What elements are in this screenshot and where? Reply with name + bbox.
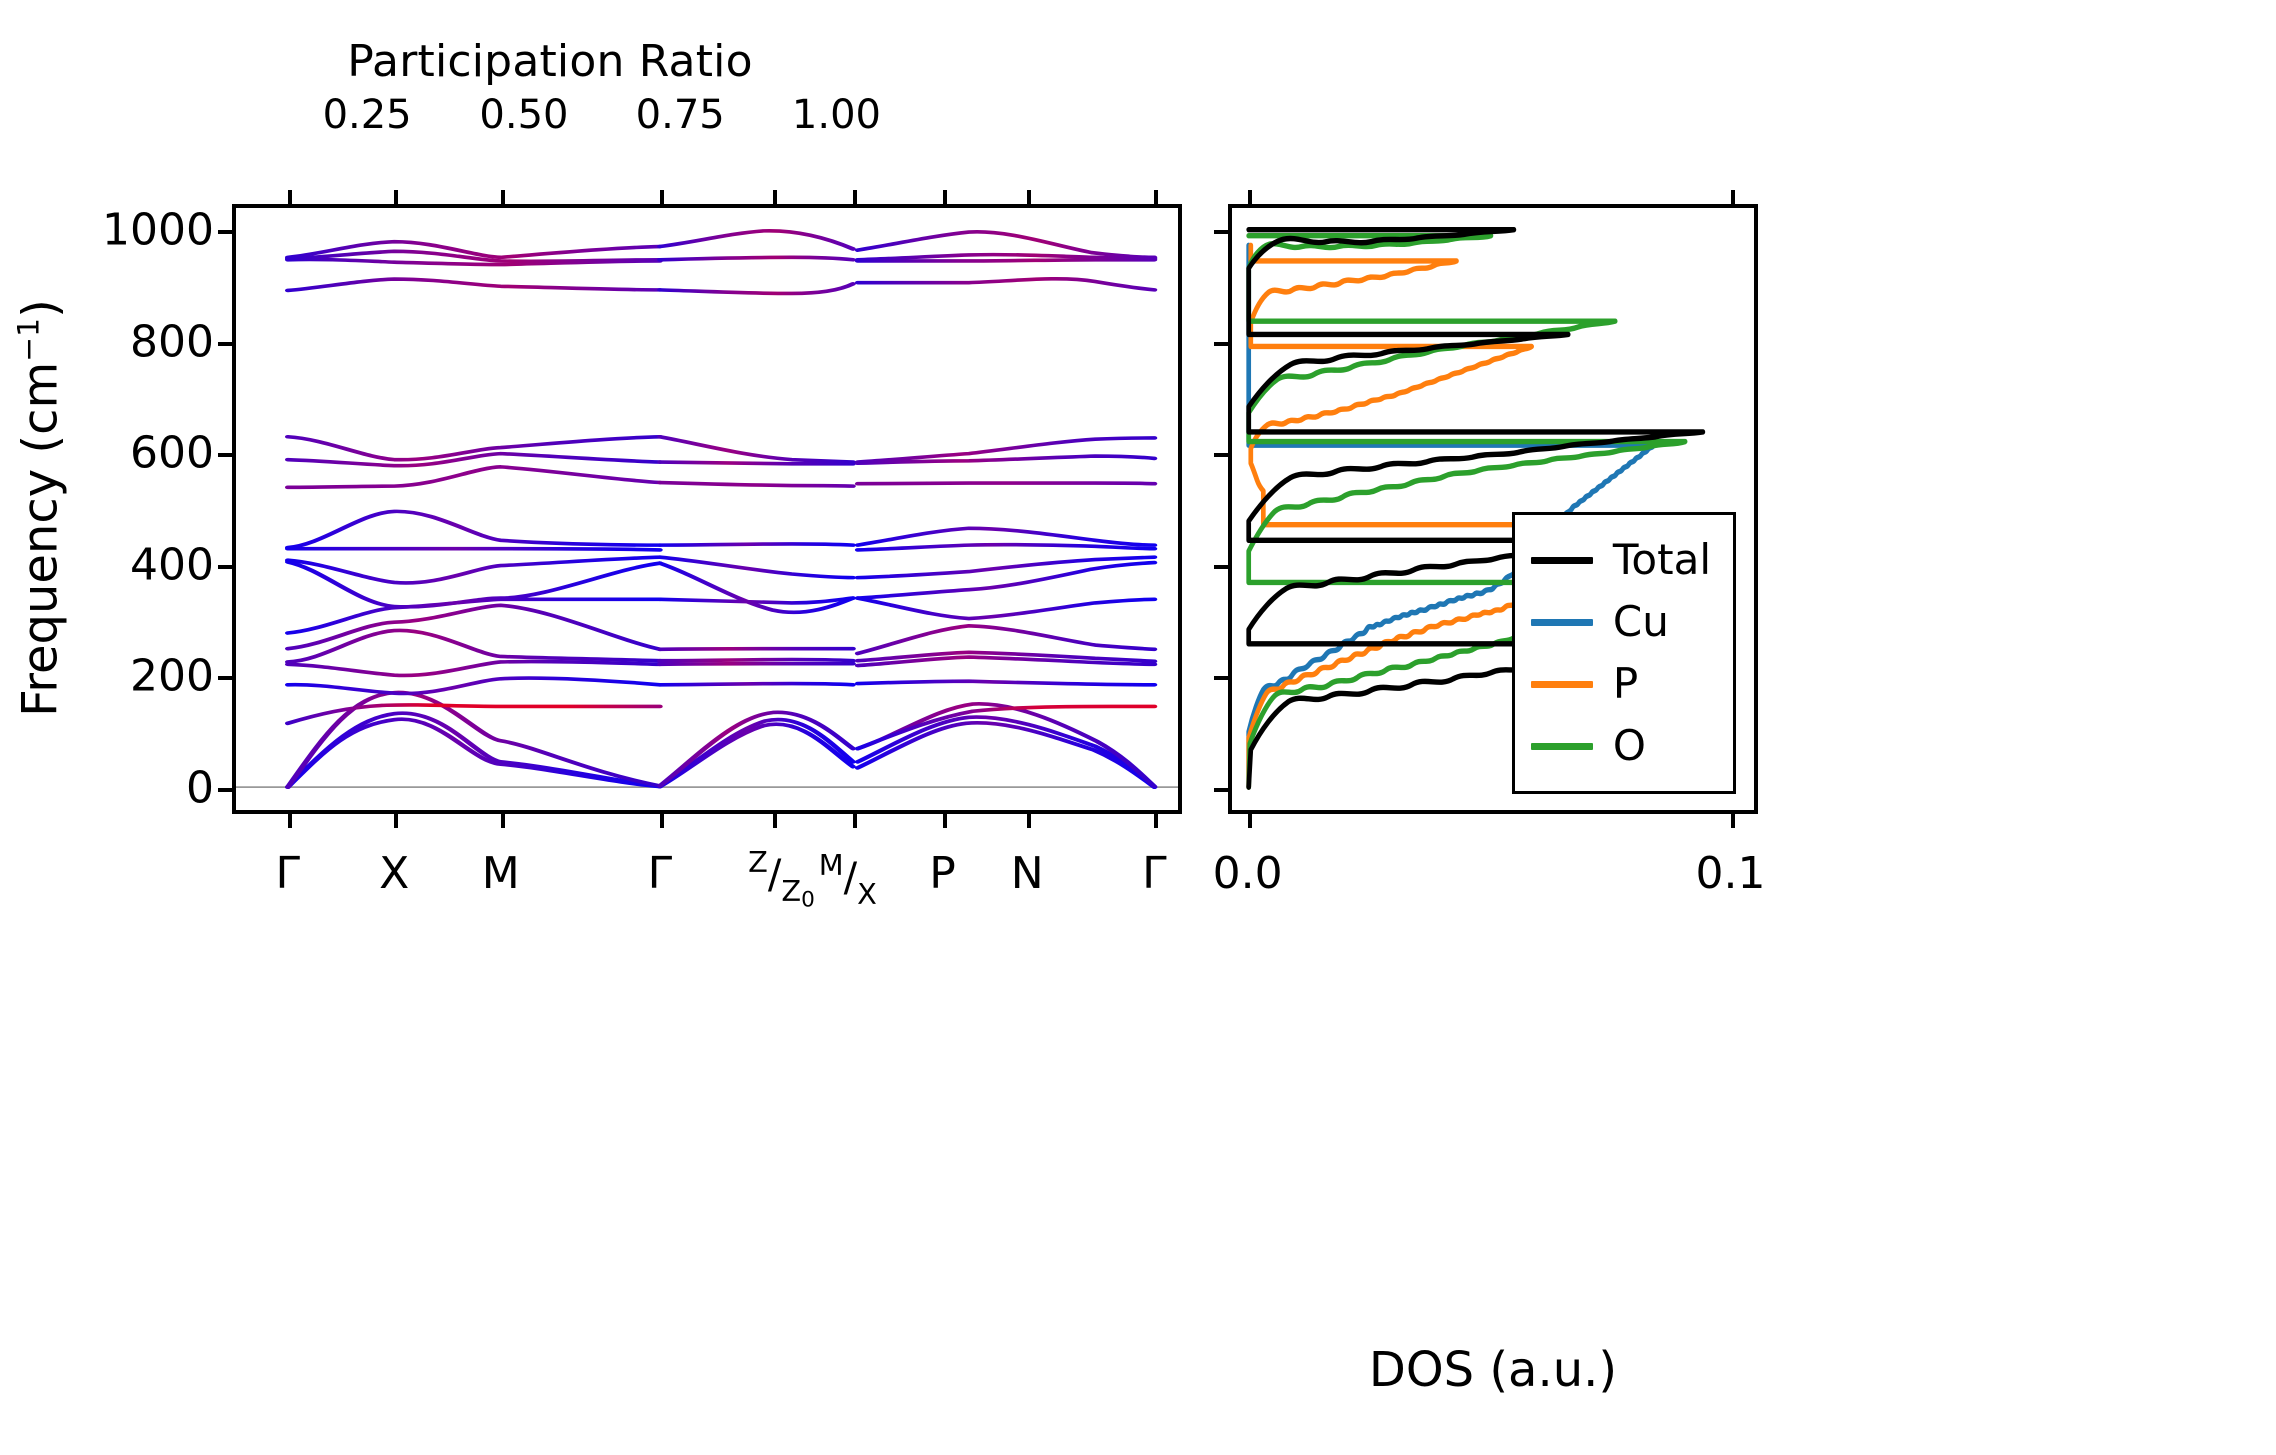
legend-item-o[interactable]: O (1531, 715, 1711, 777)
band-ytick-label-200: 200 (130, 651, 214, 702)
band-xtick-mx-top (853, 190, 857, 208)
band-xtick-m (501, 810, 505, 828)
band-xtick-x (394, 810, 398, 828)
band-s2-20 (660, 231, 853, 249)
band-ytick-400 (218, 565, 236, 569)
legend-label-p: P (1613, 663, 1638, 705)
band-ytick-label-400: 400 (130, 539, 214, 590)
band-11 (288, 557, 660, 583)
band-xtick-n (1027, 810, 1031, 828)
dos-axis-label: DOS (a.u.) (1369, 1342, 1617, 1398)
band-s2-6 (660, 664, 853, 665)
band-9 (288, 599, 660, 633)
dos-xtick-label-0: 0.0 (1213, 848, 1283, 899)
band-xtick-label-x: X (379, 848, 409, 899)
band-12 (288, 549, 660, 550)
band-s2-13 (660, 544, 853, 545)
dos-panel[interactable]: 0.0 0.1 Total Cu (1228, 204, 1758, 814)
band-xtick-m-top (501, 190, 505, 208)
band-17 (288, 279, 660, 290)
dos-ytick-1000 (1214, 230, 1232, 234)
band-ytick-200 (218, 676, 236, 680)
band-8 (288, 605, 660, 649)
colorbar-tick-label-2: 0.75 (636, 92, 725, 138)
dos-ytick-600 (1214, 453, 1232, 457)
band-s2-7 (660, 660, 853, 661)
band-s3-17 (858, 279, 1155, 290)
legend-label-total: Total (1613, 539, 1711, 581)
band-ytick-600 (218, 453, 236, 457)
band-14 (288, 467, 660, 487)
band-ytick-label-800: 800 (130, 316, 214, 367)
band-s2-8 (660, 649, 853, 650)
frac-a-num: Z (748, 845, 768, 879)
dos-ytick-200 (1214, 676, 1232, 680)
band-s2-14 (660, 483, 853, 487)
band-xtick-x-top (394, 190, 398, 208)
legend-swatch-cu (1531, 619, 1593, 626)
frac-a-den: Z0 (781, 874, 814, 908)
colorbar-tick-label-1: 0.50 (479, 92, 568, 138)
legend-swatch-total (1531, 557, 1593, 564)
frac-b-num: M (819, 848, 844, 882)
band-ytick-label-600: 600 (130, 428, 214, 479)
y-axis-label: Frequency (cm−1) (11, 299, 68, 717)
band-ytick-label-0: 0 (186, 762, 214, 813)
band-ytick-label-1000: 1000 (102, 205, 214, 256)
band-s2-acoustic-1 (660, 724, 853, 786)
band-xtick-z (773, 810, 777, 828)
band-s3-9 (858, 598, 1155, 618)
legend-swatch-o (1531, 743, 1593, 750)
band-xtick-p-top (943, 190, 947, 208)
band-s3-14 (858, 483, 1155, 484)
band-xtick-label-m: M (482, 848, 520, 899)
band-s3-8 (858, 626, 1155, 654)
band-xtick-gamma3 (1154, 810, 1158, 828)
band-ytick-1000 (218, 230, 236, 234)
band-6 (288, 662, 660, 676)
band-xtick-label-n: N (1011, 848, 1044, 899)
dos-xtick-0-top (1248, 190, 1252, 208)
dos-xtick-01-top (1731, 190, 1735, 208)
dos-xtick-0 (1248, 810, 1252, 828)
band-xtick-mx (853, 810, 857, 828)
band-xtick-gamma1-top (288, 190, 292, 208)
band-s2-16 (660, 437, 853, 462)
legend-item-p[interactable]: P (1531, 653, 1711, 715)
band-15 (288, 454, 660, 466)
band-xtick-label-gamma3: Γ (1142, 848, 1167, 899)
figure-canvas: Participation Ratio 0.25 0.50 0.75 1.00 … (0, 0, 2276, 1455)
band-xtick-gamma2-top (660, 190, 664, 208)
band-5 (288, 678, 660, 693)
band-xtick-label-p: P (929, 848, 956, 899)
frac-b-den: X (857, 876, 877, 910)
legend-item-total[interactable]: Total (1531, 529, 1711, 591)
band-ytick-0 (218, 788, 236, 792)
colorbar-title: Participation Ratio (240, 36, 860, 87)
legend-label-o: O (1613, 725, 1646, 767)
band-xtick-label-gamma2: Γ (648, 848, 673, 899)
band-s3-18 (858, 260, 1155, 261)
legend-label-cu: Cu (1613, 601, 1669, 643)
band-xtick-label-gamma1: Γ (276, 848, 301, 899)
band-xtick-label-z-m-composite: Z/Z0M/X (748, 848, 877, 911)
legend-swatch-p (1531, 681, 1593, 688)
band-xtick-gamma1 (288, 810, 292, 828)
dos-ytick-800 (1214, 342, 1232, 346)
dos-ytick-0 (1214, 788, 1232, 792)
band-s2-5 (660, 684, 853, 685)
band-s2-9 (660, 598, 853, 603)
band-xtick-n-top (1027, 190, 1031, 208)
legend-item-cu[interactable]: Cu (1531, 591, 1711, 653)
band-xtick-z-top (773, 190, 777, 208)
band-s2-17 (660, 284, 853, 294)
dos-legend[interactable]: Total Cu P O (1512, 512, 1736, 794)
dos-xtick-label-01: 0.1 (1696, 848, 1766, 899)
colorbar-tick-labels: 0.25 0.50 0.75 1.00 (240, 92, 860, 142)
band-s3-5 (858, 681, 1155, 685)
band-xtick-gamma3-top (1154, 190, 1158, 208)
band-structure-panel[interactable]: 0 200 400 600 800 1000 Γ X M Γ P N Γ Z (232, 204, 1182, 814)
band-ytick-800 (218, 342, 236, 346)
dos-ytick-400 (1214, 565, 1232, 569)
band-13 (288, 511, 660, 547)
band-s3-13 (858, 528, 1155, 545)
colorbar-tick-label-3: 1.00 (792, 92, 881, 138)
colorbar-tick-label-0: 0.25 (323, 92, 412, 138)
dos-xtick-01 (1731, 810, 1735, 828)
band-s3-12 (858, 545, 1155, 550)
band-xtick-p (943, 810, 947, 828)
band-curves (236, 208, 1178, 810)
band-xtick-gamma2 (660, 810, 664, 828)
